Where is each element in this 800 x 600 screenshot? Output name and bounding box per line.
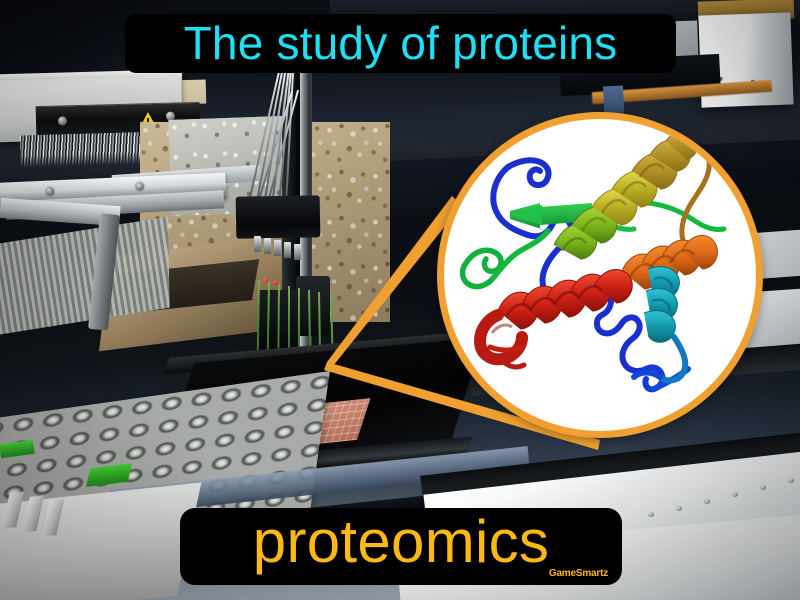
title-banner: The study of proteins [125, 14, 676, 73]
title-text: The study of proteins [184, 20, 618, 66]
flashcard-image: The study of proteins proteomics GameSma… [0, 0, 800, 600]
magnifier-lens [437, 112, 763, 438]
term-banner: proteomics GameSmartz [180, 508, 622, 585]
term-text: proteomics [253, 512, 549, 572]
watermark-text: GameSmartz [549, 568, 608, 579]
protein-ribbon-diagram [444, 119, 756, 431]
